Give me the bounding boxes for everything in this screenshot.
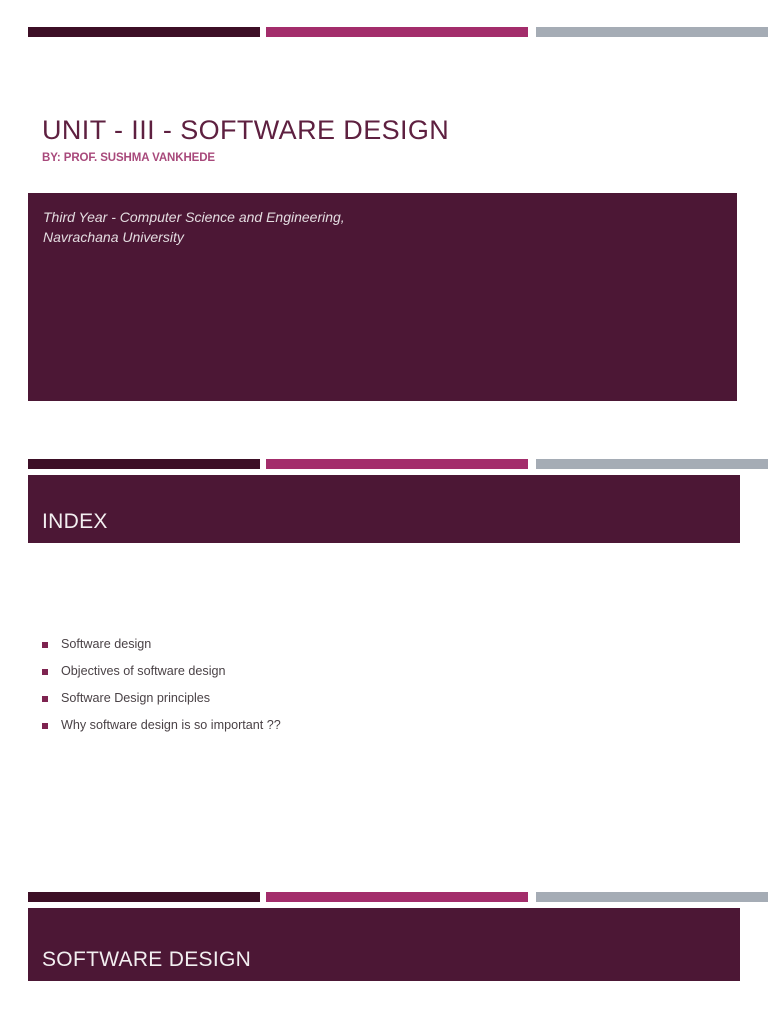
list-item: Software Design principles (42, 691, 702, 705)
square-bullet-icon (42, 642, 48, 648)
deck-subtitle-author: BY: PROF. SUSHMA VANKHEDE (42, 152, 732, 164)
title-block: UNIT - III - SOFTWARE DESIGN BY: PROF. S… (42, 115, 732, 164)
decorative-rule-bottom (28, 892, 740, 902)
rule-segment-dark (28, 892, 260, 902)
rule-segment-dark (28, 459, 260, 469)
rule-segment-gray (536, 27, 768, 37)
list-item: Why software design is so important ?? (42, 718, 702, 732)
decorative-rule-top (28, 27, 740, 37)
list-item: Objectives of software design (42, 664, 702, 678)
software-design-heading-band: SOFTWARE DESIGN (28, 908, 740, 981)
rule-segment-gray (536, 459, 768, 469)
affiliation-panel: Third Year - Computer Science and Engine… (28, 193, 737, 401)
index-bullet-list: Software design Objectives of software d… (42, 637, 702, 745)
list-item-label: Software Design principles (61, 691, 210, 705)
square-bullet-icon (42, 696, 48, 702)
square-bullet-icon (42, 723, 48, 729)
rule-segment-magenta (266, 892, 528, 902)
presentation-page: UNIT - III - SOFTWARE DESIGN BY: PROF. S… (0, 0, 768, 1024)
deck-title: UNIT - III - SOFTWARE DESIGN (42, 115, 732, 145)
rule-segment-gray (536, 892, 768, 902)
list-item-label: Objectives of software design (61, 664, 226, 678)
index-heading-band: INDEX (28, 475, 740, 543)
rule-segment-magenta (266, 459, 528, 469)
list-item-label: Why software design is so important ?? (61, 718, 281, 732)
software-design-heading-text: SOFTWARE DESIGN (42, 948, 251, 972)
index-heading-text: INDEX (42, 510, 108, 534)
list-item-label: Software design (61, 637, 151, 651)
rule-segment-magenta (266, 27, 528, 37)
affiliation-text: Third Year - Computer Science and Engine… (43, 208, 703, 248)
square-bullet-icon (42, 669, 48, 675)
rule-segment-dark (28, 27, 260, 37)
decorative-rule-index (28, 459, 740, 469)
list-item: Software design (42, 637, 702, 651)
